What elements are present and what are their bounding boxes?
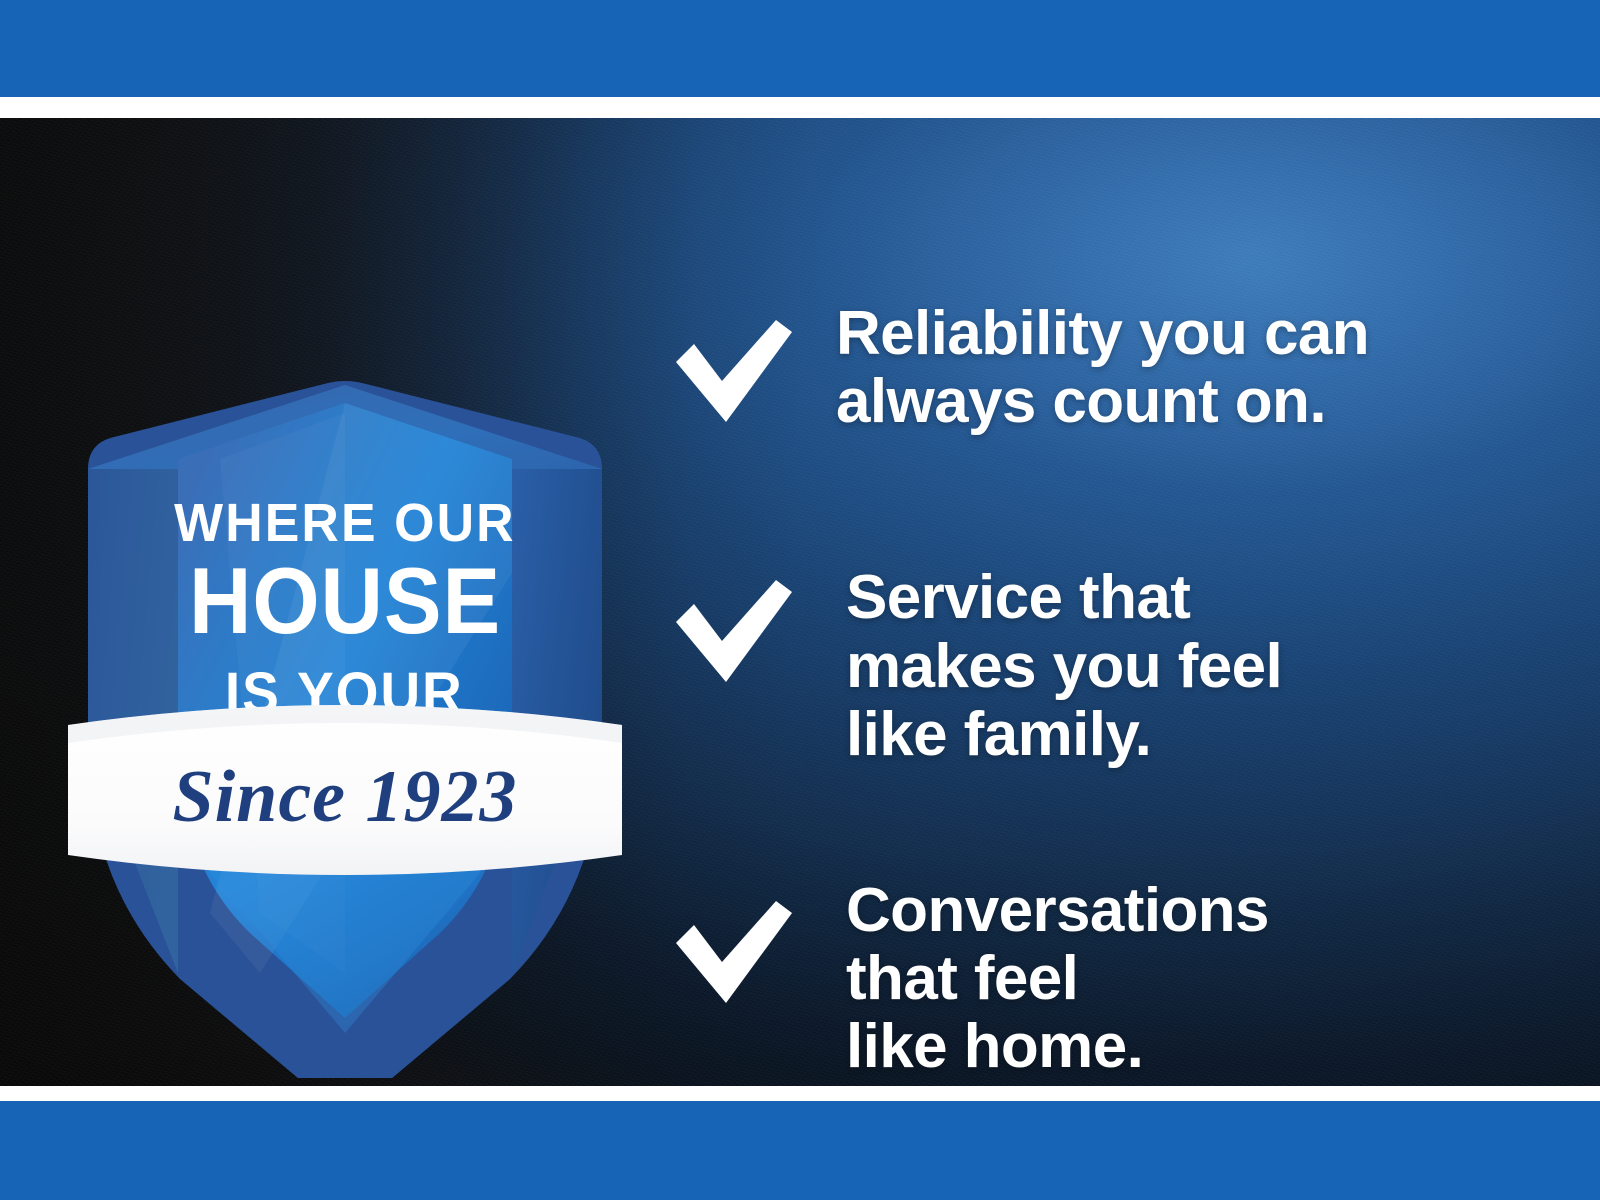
shield-line-1: WHERE OUR	[174, 493, 516, 553]
shield-logo: WHERE OUR HOUSE IS YOUR HOUSE Since 1923	[60, 273, 630, 1078]
list-item: Conversations that feel like home.	[672, 877, 1502, 1082]
list-item-label: Reliability you can always count on.	[836, 300, 1502, 436]
checkmark-icon	[672, 899, 794, 1007]
list-item-label: Service that makes you feel like family.	[846, 564, 1502, 769]
bottom-white-divider	[0, 1086, 1600, 1101]
checkmark-icon	[672, 318, 794, 426]
promo-graphic: WHERE OUR HOUSE IS YOUR HOUSE Since 1923	[0, 0, 1600, 1200]
ribbon-script-text: Since 1923	[172, 756, 517, 838]
list-item-label: Conversations that feel like home.	[846, 877, 1502, 1082]
list-item: Reliability you can always count on.	[672, 300, 1502, 436]
ribbon-banner: Since 1923	[68, 705, 622, 875]
value-prop-list: Reliability you can always count on. Ser…	[672, 300, 1502, 1082]
shield-line-2: HOUSE	[189, 549, 501, 654]
bottom-brand-bar	[0, 1101, 1600, 1200]
list-item: Service that makes you feel like family.	[672, 564, 1502, 769]
checkmark-icon	[672, 578, 794, 686]
top-brand-bar	[0, 0, 1600, 97]
top-white-divider	[0, 97, 1600, 118]
main-canvas: WHERE OUR HOUSE IS YOUR HOUSE Since 1923	[0, 118, 1600, 1086]
